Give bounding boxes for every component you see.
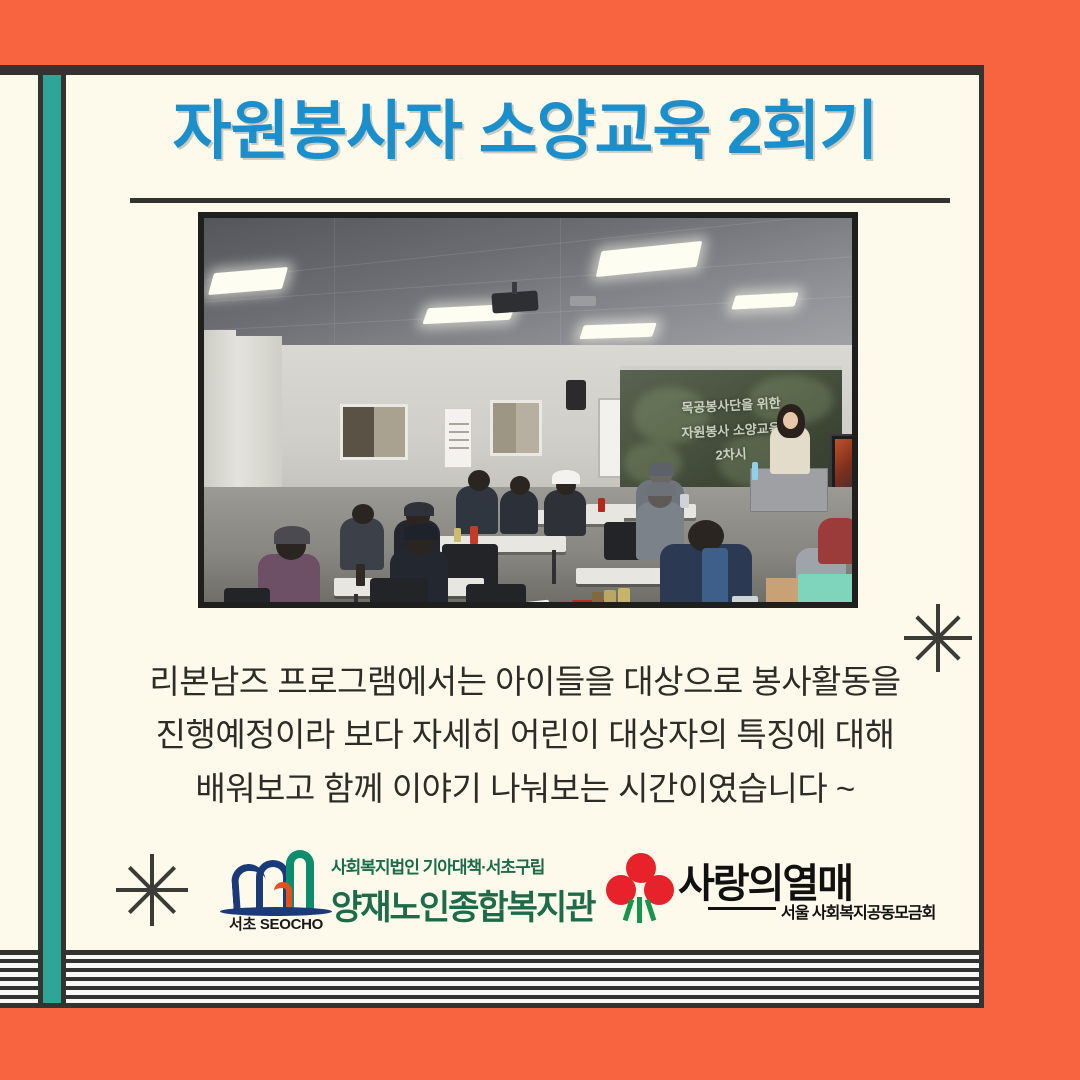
cap bbox=[404, 524, 438, 540]
fruit-of-love-mark bbox=[606, 853, 674, 925]
jacket-stripe bbox=[702, 548, 728, 608]
jar bbox=[604, 590, 616, 608]
marker-box bbox=[732, 596, 758, 608]
wall-column bbox=[204, 330, 236, 510]
stripe-line bbox=[0, 968, 979, 972]
teal-accent-bar bbox=[38, 70, 66, 1008]
cap bbox=[648, 462, 674, 476]
jar bbox=[592, 592, 603, 608]
attendee bbox=[544, 490, 586, 536]
drink-bottle bbox=[356, 564, 365, 586]
water-bottle bbox=[752, 462, 758, 480]
fruit-of-love-rule bbox=[708, 907, 776, 910]
seocho-mark bbox=[230, 850, 322, 912]
attendee-head bbox=[510, 476, 530, 495]
event-photo: 목공봉사단을 위한 자원봉사 소양교육 2차시 bbox=[198, 212, 858, 608]
stripe-line bbox=[0, 986, 979, 990]
seocho-logo: 서초 SEOCHO bbox=[216, 850, 336, 938]
fruit-of-love-logo: 사랑의열매 서울 사회복지공동모금회 bbox=[606, 851, 906, 937]
ceiling-light bbox=[579, 323, 656, 340]
wall-poster bbox=[444, 408, 472, 468]
cap bbox=[404, 502, 434, 516]
red-cap bbox=[646, 482, 676, 496]
bottom-stripe-band bbox=[0, 950, 984, 1008]
card-top-rule bbox=[0, 65, 984, 70]
body-line-3: 배워보고 함께 이야기 나눠보는 시간이였습니다 ~ bbox=[66, 762, 984, 815]
star-decoration-right bbox=[900, 600, 976, 676]
body-line-2: 진행예정이라 보다 자세히 어린이 대상자의 특징에 대해 bbox=[66, 708, 984, 761]
projector-mount bbox=[512, 282, 517, 294]
window bbox=[340, 404, 408, 460]
chair bbox=[466, 584, 526, 608]
presenter-face bbox=[783, 412, 798, 429]
drink-bottle bbox=[470, 526, 478, 544]
wall-speaker bbox=[566, 380, 586, 410]
attendee bbox=[818, 518, 858, 564]
stripe-line bbox=[0, 959, 979, 963]
phone bbox=[680, 494, 689, 508]
cap bbox=[274, 526, 310, 544]
leaf-stem bbox=[637, 897, 642, 923]
seocho-wordmark: 서초 SEOCHO bbox=[216, 913, 336, 934]
yangjae-logo: 사회복지법인 기아대책·서초구립 양재노인종합복지관 bbox=[331, 853, 591, 929]
chair bbox=[224, 588, 270, 608]
arch-orange-small bbox=[274, 882, 292, 910]
ceiling-vent bbox=[570, 296, 596, 306]
wall-column bbox=[234, 336, 282, 512]
stripe-line bbox=[0, 977, 979, 981]
lectern bbox=[750, 468, 828, 512]
chair bbox=[370, 578, 428, 608]
window bbox=[490, 400, 542, 456]
drink-bottle bbox=[598, 498, 605, 512]
attendee bbox=[340, 518, 384, 570]
attendee bbox=[500, 490, 538, 534]
jar bbox=[618, 588, 630, 608]
title-divider bbox=[130, 198, 950, 203]
body-paragraph: 리본남즈 프로그램에서는 아이들을 대상으로 봉사활동을 진행예정이라 보다 자… bbox=[66, 655, 984, 815]
logo-row: 서초 SEOCHO 사회복지법인 기아대책·서초구립 양재노인종합복지관 사랑의… bbox=[66, 845, 984, 945]
fruit-of-love-subtitle: 서울 사회복지공동모금회 bbox=[781, 899, 935, 923]
white-cap bbox=[552, 470, 580, 484]
attendee-head bbox=[352, 504, 374, 524]
snack-pack bbox=[644, 602, 684, 608]
page-title: 자원봉사자 소양교육 2회기 bbox=[66, 96, 984, 166]
body-line-1: 리본남즈 프로그램에서는 아이들을 대상으로 봉사활동을 bbox=[66, 655, 984, 708]
gift-bag bbox=[798, 574, 856, 608]
stripe-line bbox=[0, 995, 979, 999]
yangjae-name: 양재노인종합복지관 bbox=[331, 880, 591, 929]
yangjae-subtitle: 사회복지법인 기아대책·서초구립 bbox=[331, 853, 591, 878]
classroom-photo-scene: 목공봉사단을 위한 자원봉사 소양교육 2차시 bbox=[204, 218, 852, 602]
attendee-head bbox=[468, 470, 490, 491]
drink-bottle bbox=[454, 528, 461, 542]
